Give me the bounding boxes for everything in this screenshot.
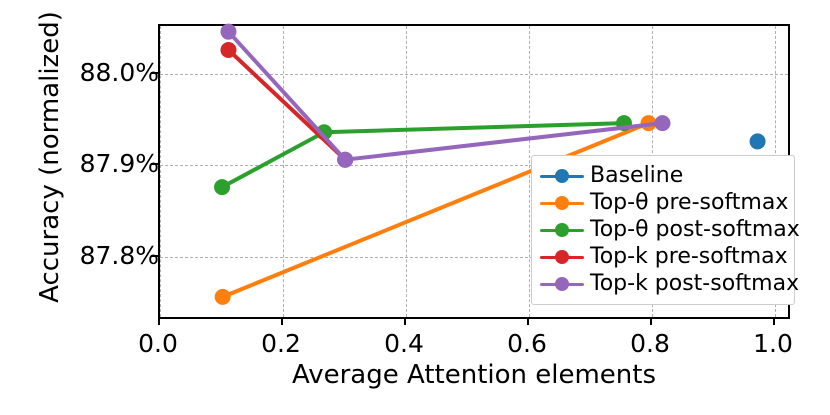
series-line (228, 32, 662, 160)
legend-label-top-k-pre-softmax: Top-k pre-softmax (590, 245, 788, 269)
data-point (214, 179, 230, 195)
data-point (654, 115, 670, 131)
legend-swatch-top-k-pre-softmax (540, 249, 584, 265)
legend-swatch-top-theta-post-softmax (540, 222, 584, 238)
legend-swatch-top-theta-pre-softmax (540, 195, 584, 211)
legend: Baseline Top-θ pre-softmax Top-θ post-so… (531, 155, 795, 305)
legend-label-baseline: Baseline (590, 164, 683, 188)
legend-dot-top-theta-post-softmax (555, 223, 569, 237)
legend-item-top-theta-post-softmax[interactable]: Top-θ post-softmax (540, 216, 786, 243)
series-baseline (750, 133, 766, 149)
chart-figure: 0.0 0.2 0.4 0.6 0.8 1.0 87.8% 87.9% 88.0… (0, 0, 830, 415)
legend-swatch-top-k-post-softmax (540, 276, 584, 292)
series-top-k-post-softmax (220, 24, 670, 168)
legend-label-top-k-post-softmax: Top-k post-softmax (590, 272, 799, 296)
legend-dot-baseline (555, 169, 569, 183)
legend-dot-top-k-post-softmax (555, 277, 569, 291)
legend-dot-top-theta-pre-softmax (555, 196, 569, 210)
data-point (750, 133, 766, 149)
data-point (220, 42, 236, 58)
legend-dot-top-k-pre-softmax (555, 250, 569, 264)
data-point (215, 289, 231, 305)
data-point (337, 152, 353, 168)
data-point (220, 24, 236, 40)
legend-label-top-theta-pre-softmax: Top-θ pre-softmax (590, 191, 788, 215)
legend-item-top-k-post-softmax[interactable]: Top-k post-softmax (540, 270, 786, 297)
legend-item-top-k-pre-softmax[interactable]: Top-k pre-softmax (540, 243, 786, 270)
legend-item-top-theta-pre-softmax[interactable]: Top-θ pre-softmax (540, 189, 786, 216)
legend-swatch-baseline (540, 168, 584, 184)
legend-label-top-theta-post-softmax: Top-θ post-softmax (590, 218, 800, 242)
legend-item-baseline[interactable]: Baseline (540, 162, 786, 189)
